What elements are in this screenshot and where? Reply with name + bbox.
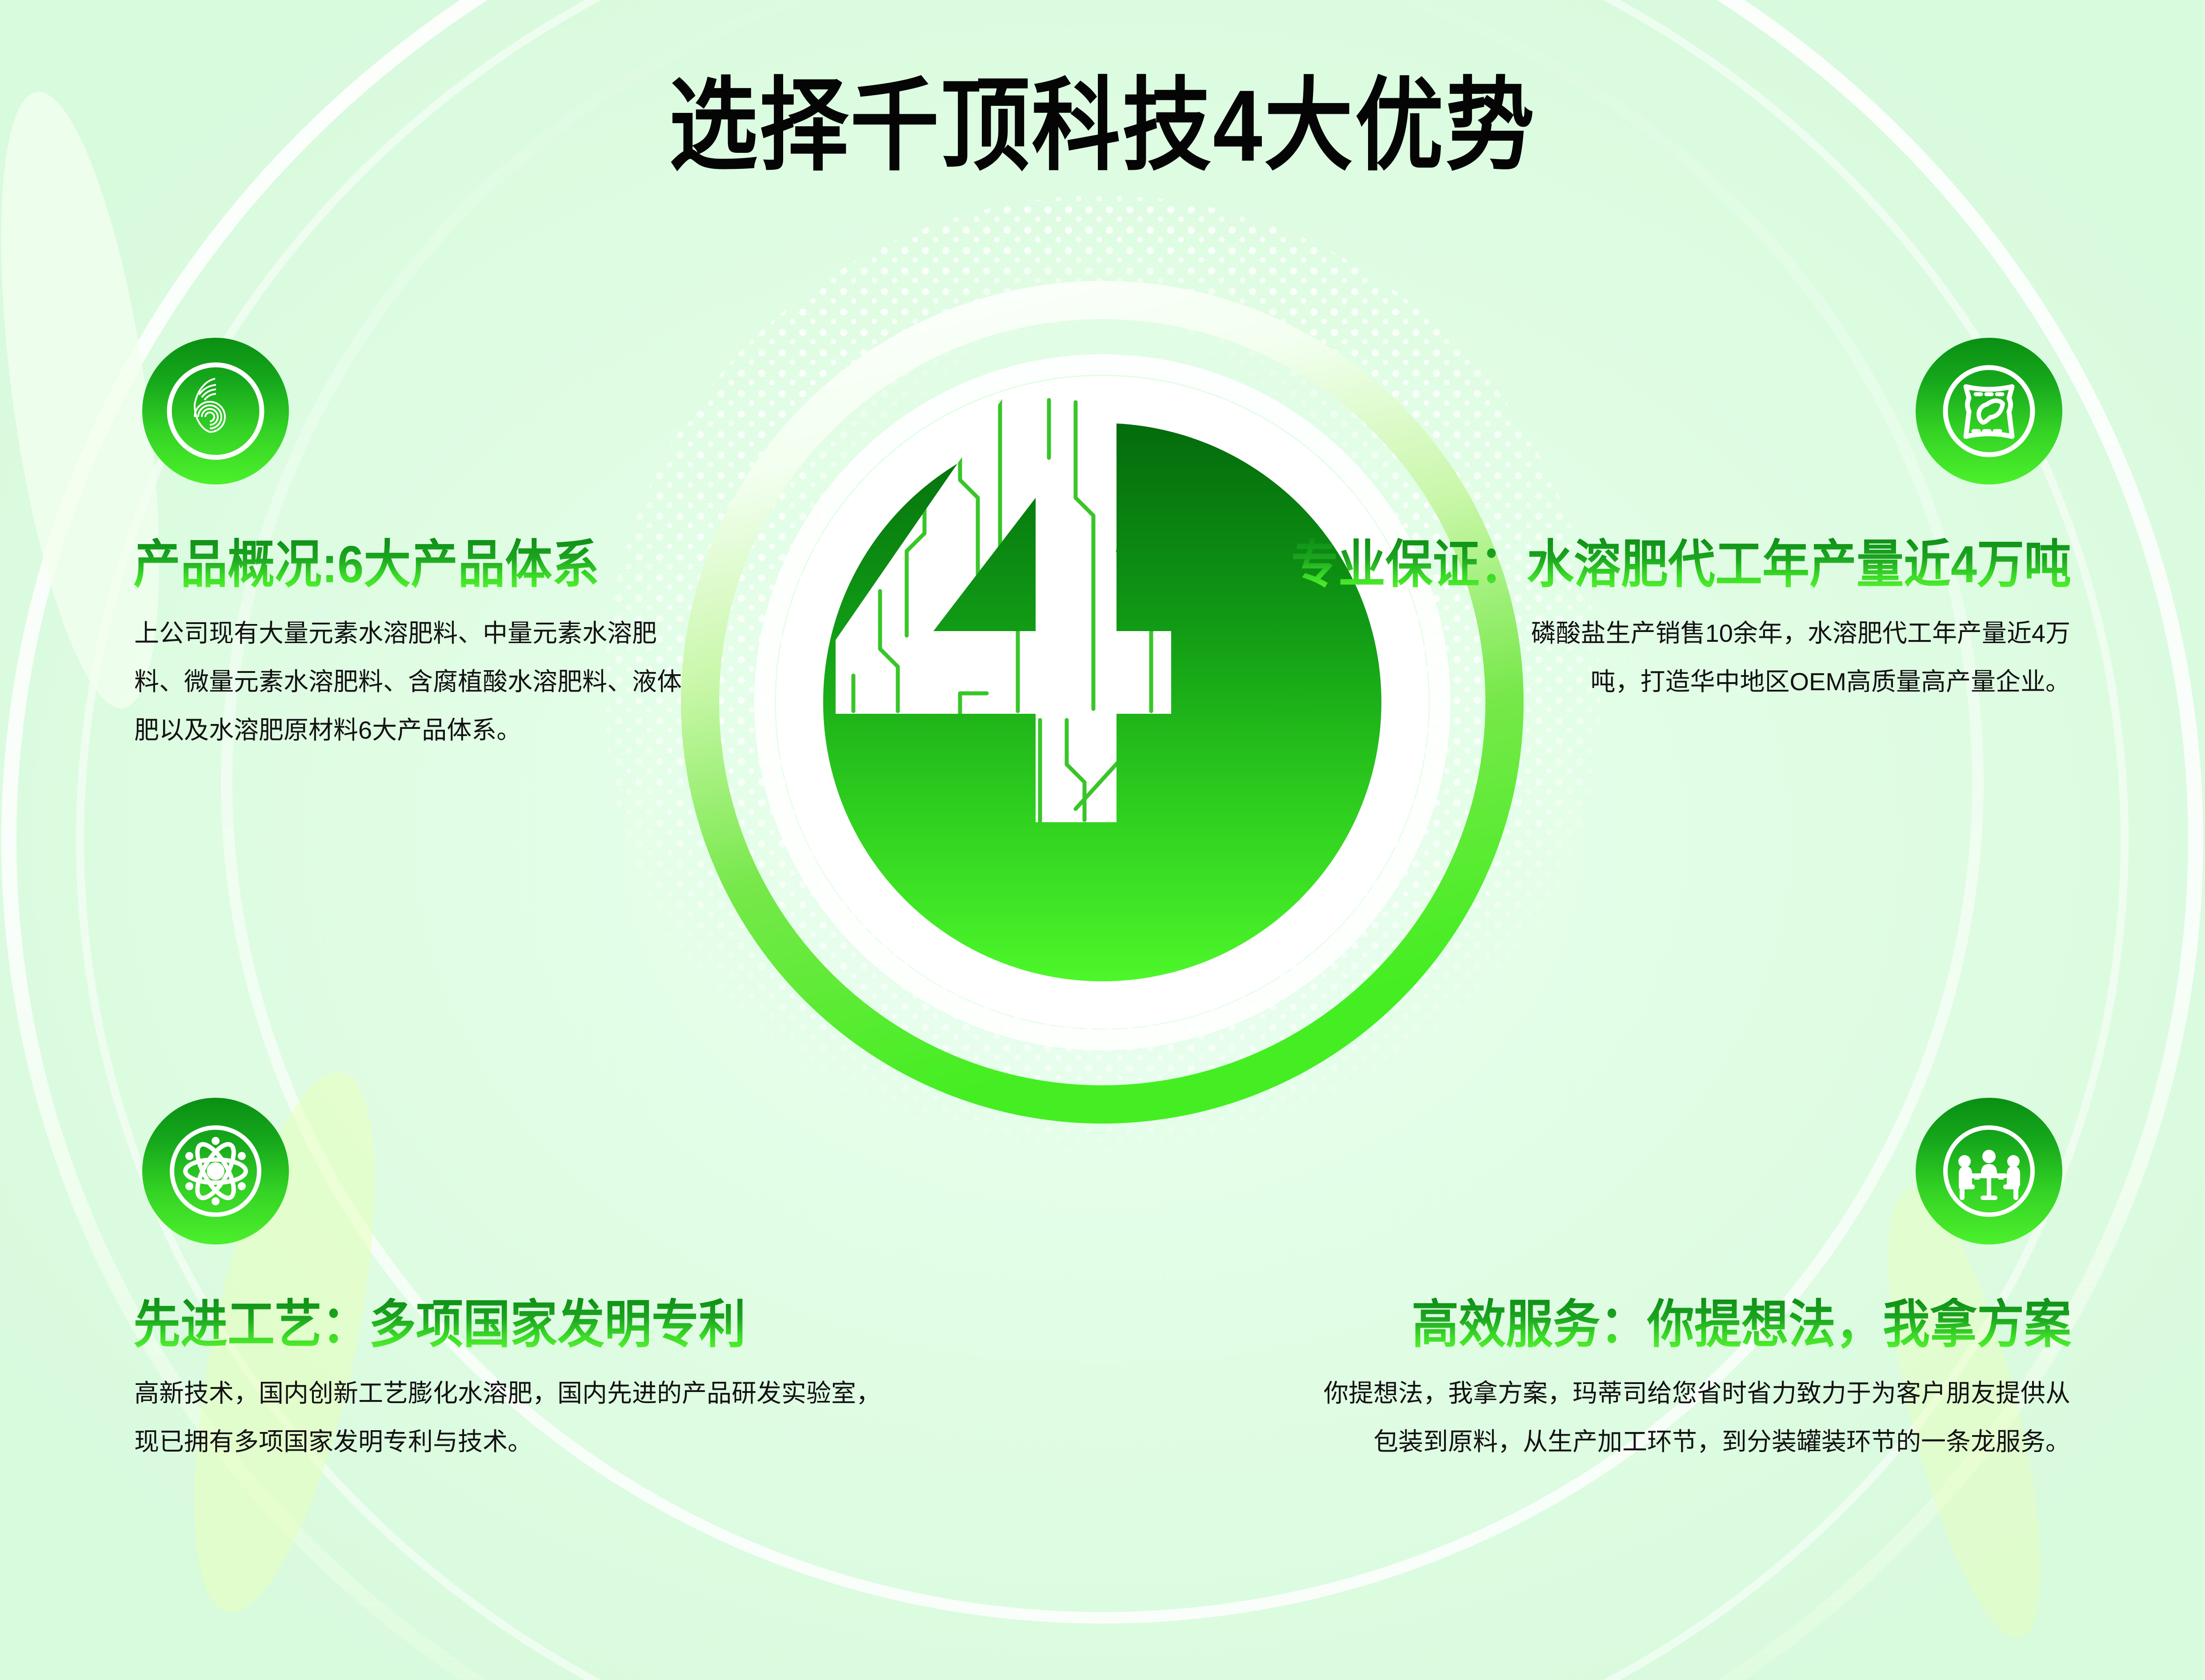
meeting-people-icon bbox=[1916, 1098, 2062, 1244]
feature-heading: 先进工艺：多项国家发明专利 bbox=[133, 1298, 746, 1352]
fertilizer-bag-icon bbox=[1916, 338, 2062, 484]
number-six-spiral-icon bbox=[142, 338, 289, 484]
center-hub bbox=[649, 249, 1556, 1156]
feature-body: 上公司现有大量元素水溶肥料、中量元素水溶肥料、微量元素水溶肥料、含腐植酸水溶肥料… bbox=[134, 609, 690, 755]
feature-body: 磷酸盐生产销售10余年，水溶肥代工年产量近4万吨，打造华中地区OEM高质量高产量… bbox=[1515, 609, 2070, 706]
feature-body: 高新技术，国内创新工艺膨化水溶肥，国内先进的产品研发实验室，现已拥有多项国家发明… bbox=[134, 1369, 890, 1466]
feature-body: 你提想法，我拿方案，玛蒂司给您省时省力致力于为客户朋友提供从包装到原料，从生产加… bbox=[1315, 1369, 2070, 1466]
page-title: 选择千顶科技4大优势 bbox=[0, 76, 2205, 177]
atom-icon bbox=[142, 1098, 289, 1244]
feature-heading: 产品概况:6大产品体系 bbox=[133, 538, 599, 592]
feature-heading: 专业保证：水溶肥代工年产量近4万吨 bbox=[1291, 538, 2071, 592]
feature-heading: 高效服务：你提想法，我拿方案 bbox=[1412, 1298, 2071, 1352]
